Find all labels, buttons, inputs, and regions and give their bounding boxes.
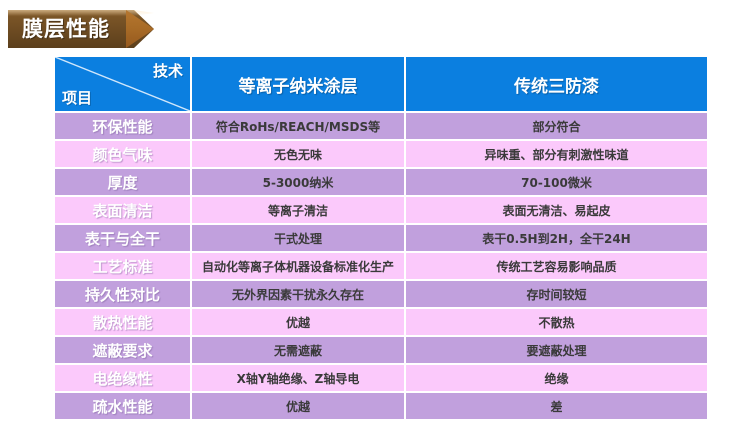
row-value-traditional: 差 bbox=[406, 393, 707, 419]
row-value-plasma: X轴Y轴绝缘、Z轴导电 bbox=[192, 365, 406, 393]
row-label: 疏水性能 bbox=[55, 393, 192, 419]
row-value-traditional: 传统工艺容易影响品质 bbox=[406, 253, 707, 281]
row-label: 工艺标准 bbox=[55, 253, 192, 281]
row-value-plasma: 优越 bbox=[192, 393, 406, 419]
row-label: 环保性能 bbox=[55, 113, 192, 141]
row-value-traditional: 表干0.5H到2H，全干24H bbox=[406, 225, 707, 253]
row-value-traditional: 异味重、部分有刺激性味道 bbox=[406, 141, 707, 169]
table-row: 疏水性能 优越 差 bbox=[55, 393, 707, 419]
row-value-traditional: 表面无清洁、易起皮 bbox=[406, 197, 707, 225]
row-label: 表面清洁 bbox=[55, 197, 192, 225]
section-banner: 膜层性能 bbox=[8, 10, 154, 48]
row-value-traditional: 不散热 bbox=[406, 309, 707, 337]
table-header-row: 技术 项目 等离子纳米涂层 传统三防漆 bbox=[55, 57, 707, 113]
table-row: 持久性对比 无外界因素干扰永久存在 存时间较短 bbox=[55, 281, 707, 309]
row-value-plasma: 干式处理 bbox=[192, 225, 406, 253]
row-label: 电绝缘性 bbox=[55, 365, 192, 393]
row-value-traditional: 绝缘 bbox=[406, 365, 707, 393]
row-value-plasma: 无色无味 bbox=[192, 141, 406, 169]
row-label: 散热性能 bbox=[55, 309, 192, 337]
header-column-traditional: 传统三防漆 bbox=[406, 57, 707, 113]
row-value-plasma: 无需遮蔽 bbox=[192, 337, 406, 365]
row-label: 颜色气味 bbox=[55, 141, 192, 169]
comparison-table: 技术 项目 等离子纳米涂层 传统三防漆 环保性能 符合RoHs/REACH/MS… bbox=[55, 57, 707, 419]
table-row: 厚度 5-3000纳米 70-100微米 bbox=[55, 169, 707, 197]
row-value-traditional: 70-100微米 bbox=[406, 169, 707, 197]
table-row: 表面清洁 等离子清洁 表面无清洁、易起皮 bbox=[55, 197, 707, 225]
row-label: 遮蔽要求 bbox=[55, 337, 192, 365]
table-row: 遮蔽要求 无需遮蔽 要遮蔽处理 bbox=[55, 337, 707, 365]
row-label: 表干与全干 bbox=[55, 225, 192, 253]
table-row: 工艺标准 自动化等离子体机器设备标准化生产 传统工艺容易影响品质 bbox=[55, 253, 707, 281]
header-column-plasma: 等离子纳米涂层 bbox=[192, 57, 406, 113]
row-value-plasma: 优越 bbox=[192, 309, 406, 337]
row-label: 持久性对比 bbox=[55, 281, 192, 309]
table-row: 颜色气味 无色无味 异味重、部分有刺激性味道 bbox=[55, 141, 707, 169]
header-corner-cell: 技术 项目 bbox=[55, 57, 192, 113]
table-body: 环保性能 符合RoHs/REACH/MSDS等 部分符合 颜色气味 无色无味 异… bbox=[55, 113, 707, 419]
header-corner-technology-label: 技术 bbox=[153, 60, 183, 81]
table-row: 环保性能 符合RoHs/REACH/MSDS等 部分符合 bbox=[55, 113, 707, 141]
table-row: 表干与全干 干式处理 表干0.5H到2H，全干24H bbox=[55, 225, 707, 253]
table-head: 技术 项目 等离子纳米涂层 传统三防漆 bbox=[55, 57, 707, 113]
banner-title: 膜层性能 bbox=[22, 10, 110, 48]
row-value-plasma: 等离子清洁 bbox=[192, 197, 406, 225]
row-value-plasma: 自动化等离子体机器设备标准化生产 bbox=[192, 253, 406, 281]
row-value-plasma: 符合RoHs/REACH/MSDS等 bbox=[192, 113, 406, 141]
comparison-table-wrapper: 技术 项目 等离子纳米涂层 传统三防漆 环保性能 符合RoHs/REACH/MS… bbox=[55, 57, 707, 419]
row-value-traditional: 要遮蔽处理 bbox=[406, 337, 707, 365]
row-value-plasma: 无外界因素干扰永久存在 bbox=[192, 281, 406, 309]
row-value-traditional: 部分符合 bbox=[406, 113, 707, 141]
row-label: 厚度 bbox=[55, 169, 192, 197]
row-value-traditional: 存时间较短 bbox=[406, 281, 707, 309]
row-value-plasma: 5-3000纳米 bbox=[192, 169, 406, 197]
header-corner-item-label: 项目 bbox=[62, 87, 92, 108]
table-row: 散热性能 优越 不散热 bbox=[55, 309, 707, 337]
table-row: 电绝缘性 X轴Y轴绝缘、Z轴导电 绝缘 bbox=[55, 365, 707, 393]
